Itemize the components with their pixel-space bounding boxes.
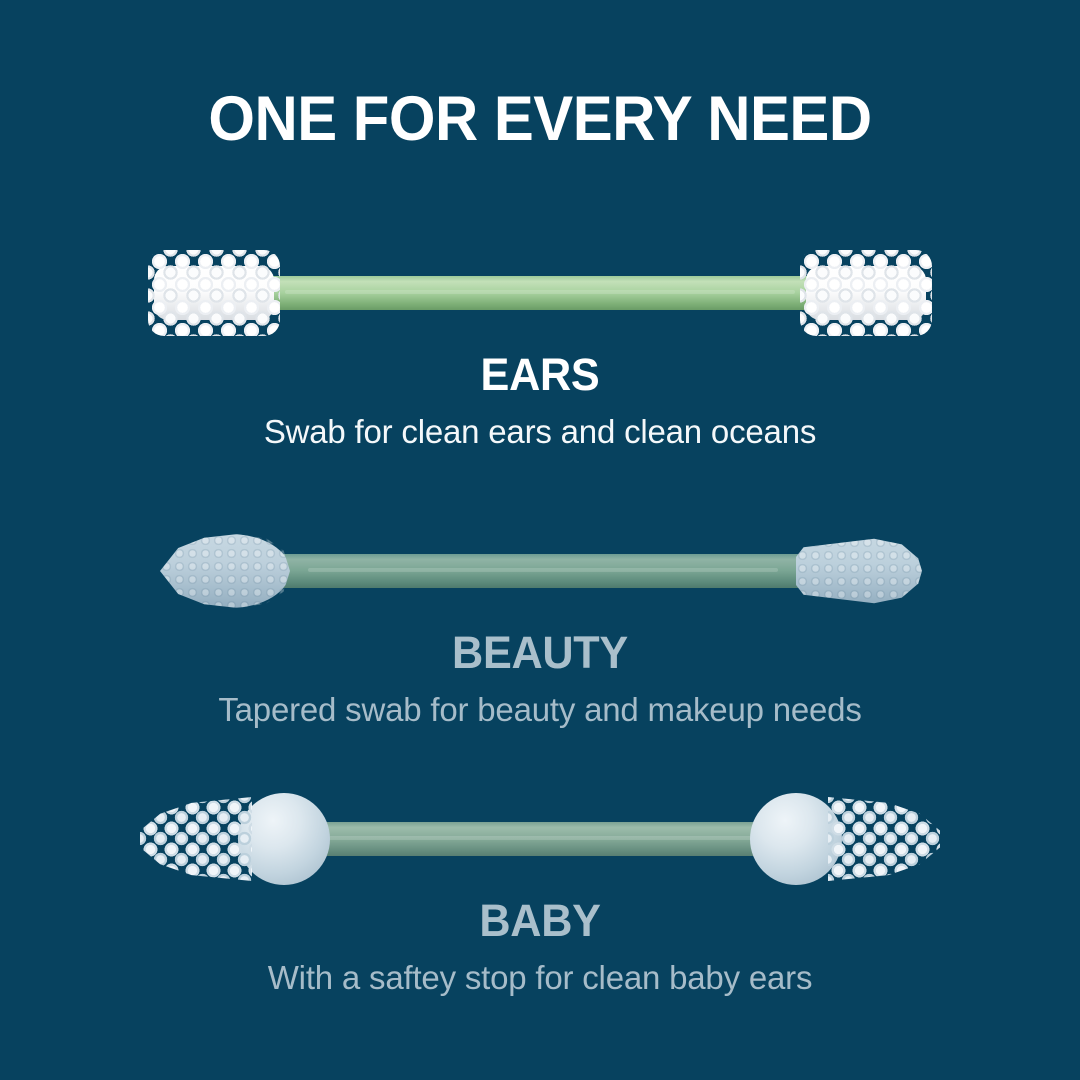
swab-tip-nub-texture [800, 250, 932, 336]
swab-tip-spike-texture [828, 797, 940, 881]
product-block-beauty: BEAUTY Tapered swab for beauty and makeu… [0, 516, 1080, 728]
product-heading-beauty: BEAUTY [22, 630, 1059, 675]
product-block-ears: EARS Swab for clean ears and clean ocean… [0, 238, 1080, 450]
swab-tip-spike-texture [140, 797, 252, 881]
product-caption-beauty: Tapered swab for beauty and makeup needs [0, 692, 1080, 728]
infographic-canvas: ONE FOR EVERY NEED EARS Swab for clean e… [0, 0, 1080, 1080]
swab-illustration-ears [0, 238, 1080, 348]
swab-stem-ears [250, 276, 830, 310]
swab-stem-beauty [276, 554, 810, 588]
product-block-baby: BABY With a saftey stop for clean baby e… [0, 784, 1080, 996]
page-title: ONE FOR EVERY NEED [27, 88, 1053, 151]
product-heading-ears: EARS [22, 352, 1059, 397]
swab-tip-ears-right [800, 250, 932, 336]
product-caption-baby: With a saftey stop for clean baby ears [0, 960, 1080, 996]
swab-stem-baby [288, 822, 792, 856]
swab-tip-baby-right [750, 791, 940, 887]
product-caption-ears: Swab for clean ears and clean oceans [0, 414, 1080, 450]
swab-illustration-baby [0, 784, 1080, 894]
swab-tip-ears-left [148, 250, 280, 336]
swab-illustration-beauty [0, 516, 1080, 626]
swab-tip-nub-texture [148, 250, 280, 336]
swab-tip-beauty-pointed-left [160, 534, 290, 608]
swab-tip-beauty-rounded-right [796, 536, 922, 606]
product-heading-baby: BABY [22, 898, 1059, 943]
swab-tip-baby-left [140, 791, 330, 887]
